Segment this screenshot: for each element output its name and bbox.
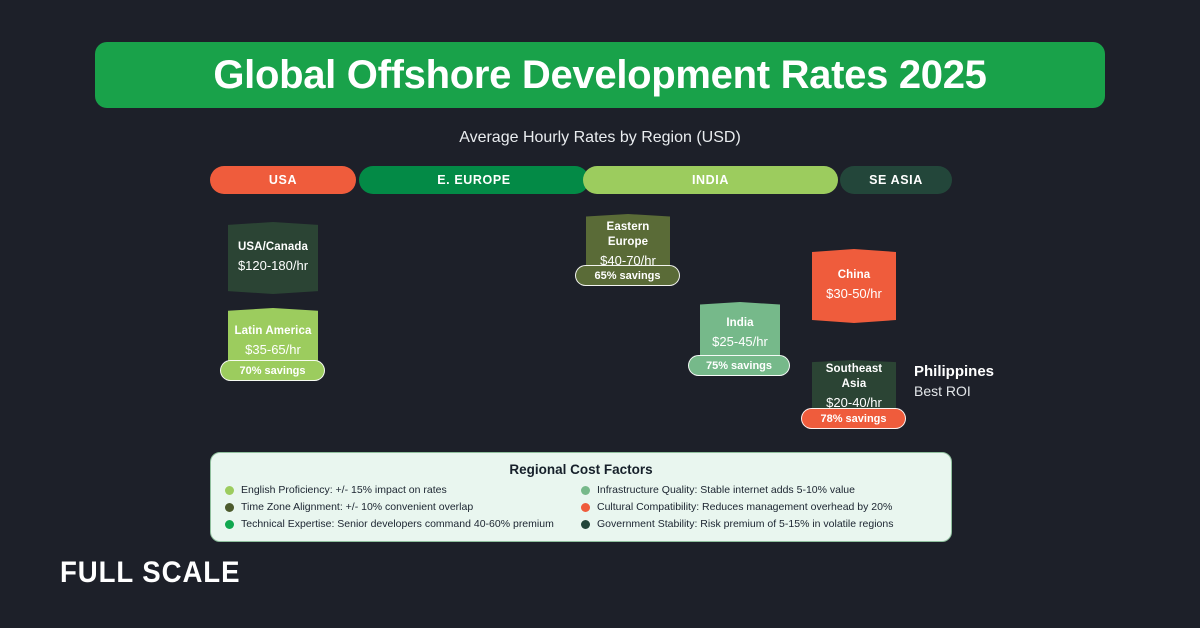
philippines-annotation: Philippines Best ROI bbox=[914, 362, 994, 402]
region-pill-se-asia[interactable]: SE ASIA bbox=[840, 166, 952, 194]
savings-badge-southeast-asia: 78% savings bbox=[801, 408, 906, 429]
brand-logo: FULL SCALE bbox=[60, 556, 240, 590]
rate-card-value: $30-50/hr bbox=[826, 285, 882, 303]
subtitle: Average Hourly Rates by Region (USD) bbox=[0, 129, 1200, 147]
legend-item-label: Time Zone Alignment: +/- 10% convenient … bbox=[241, 500, 473, 514]
legend-panel: Regional Cost Factors English Proficienc… bbox=[210, 452, 952, 542]
legend-column-right: Infrastructure Quality: Stable internet … bbox=[581, 483, 937, 532]
annotation-subtitle: Best ROI bbox=[914, 382, 994, 402]
savings-badge-label: 70% savings bbox=[239, 365, 305, 377]
legend-item: Government Stability: Risk premium of 5-… bbox=[581, 517, 937, 531]
rate-card-value: $35-65/hr bbox=[245, 341, 301, 359]
legend-item: Time Zone Alignment: +/- 10% convenient … bbox=[225, 500, 581, 514]
legend-item: Infrastructure Quality: Stable internet … bbox=[581, 483, 937, 497]
region-pill-label: SE ASIA bbox=[869, 173, 923, 187]
savings-badge-latin-america: 70% savings bbox=[220, 360, 325, 381]
region-pill-india[interactable]: INDIA bbox=[583, 166, 838, 194]
region-pill-row: USAE. EUROPEINDIASE ASIA bbox=[210, 166, 955, 194]
rate-card-name: India bbox=[726, 316, 753, 331]
region-pill-label: INDIA bbox=[692, 173, 729, 187]
legend-bullet-icon bbox=[225, 486, 234, 495]
legend-item-label: Cultural Compatibility: Reduces manageme… bbox=[597, 500, 892, 514]
savings-badge-label: 75% savings bbox=[706, 360, 772, 372]
legend-item-label: Technical Expertise: Senior developers c… bbox=[241, 517, 554, 531]
legend-item: Technical Expertise: Senior developers c… bbox=[225, 517, 581, 531]
legend-item: Cultural Compatibility: Reduces manageme… bbox=[581, 500, 937, 514]
rate-card-china[interactable]: China$30-50/hr bbox=[812, 249, 896, 323]
legend-title: Regional Cost Factors bbox=[225, 462, 937, 477]
title-banner: Global Offshore Development Rates 2025 bbox=[95, 42, 1105, 108]
region-pill-usa[interactable]: USA bbox=[210, 166, 356, 194]
rate-card-southeast-asia[interactable]: Southeast Asia$20-40/hr bbox=[812, 360, 896, 414]
rate-card-name: China bbox=[838, 268, 870, 283]
legend-bullet-icon bbox=[581, 486, 590, 495]
legend-column-left: English Proficiency: +/- 15% impact on r… bbox=[225, 483, 581, 532]
rate-card-usa-canada[interactable]: USA/Canada$120-180/hr bbox=[228, 222, 318, 294]
legend-bullet-icon bbox=[581, 520, 590, 529]
region-pill-label: E. EUROPE bbox=[437, 173, 510, 187]
page-title: Global Offshore Development Rates 2025 bbox=[213, 53, 986, 98]
legend-item-label: Government Stability: Risk premium of 5-… bbox=[597, 517, 893, 531]
region-pill-label: USA bbox=[269, 173, 297, 187]
annotation-title: Philippines bbox=[914, 362, 994, 382]
savings-badge-label: 65% savings bbox=[594, 270, 660, 282]
legend-item-label: English Proficiency: +/- 15% impact on r… bbox=[241, 483, 447, 497]
rate-card-name: Latin America bbox=[235, 324, 312, 339]
rate-card-name: USA/Canada bbox=[238, 240, 308, 255]
legend-item-label: Infrastructure Quality: Stable internet … bbox=[597, 483, 855, 497]
infographic-canvas: Global Offshore Development Rates 2025 A… bbox=[0, 0, 1200, 628]
rate-card-name: Southeast Asia bbox=[816, 362, 892, 392]
rate-card-value: $25-45/hr bbox=[712, 333, 768, 351]
region-pill-e-europe[interactable]: E. EUROPE bbox=[359, 166, 589, 194]
savings-badge-eastern-europe: 65% savings bbox=[575, 265, 680, 286]
legend-item: English Proficiency: +/- 15% impact on r… bbox=[225, 483, 581, 497]
savings-badge-india: 75% savings bbox=[688, 355, 790, 376]
savings-badge-label: 78% savings bbox=[820, 413, 886, 425]
rate-card-name: Eastern Europe bbox=[590, 220, 666, 250]
legend-bullet-icon bbox=[225, 520, 234, 529]
rate-card-value: $120-180/hr bbox=[238, 257, 308, 275]
legend-bullet-icon bbox=[225, 503, 234, 512]
legend-columns: English Proficiency: +/- 15% impact on r… bbox=[225, 483, 937, 532]
legend-bullet-icon bbox=[581, 503, 590, 512]
